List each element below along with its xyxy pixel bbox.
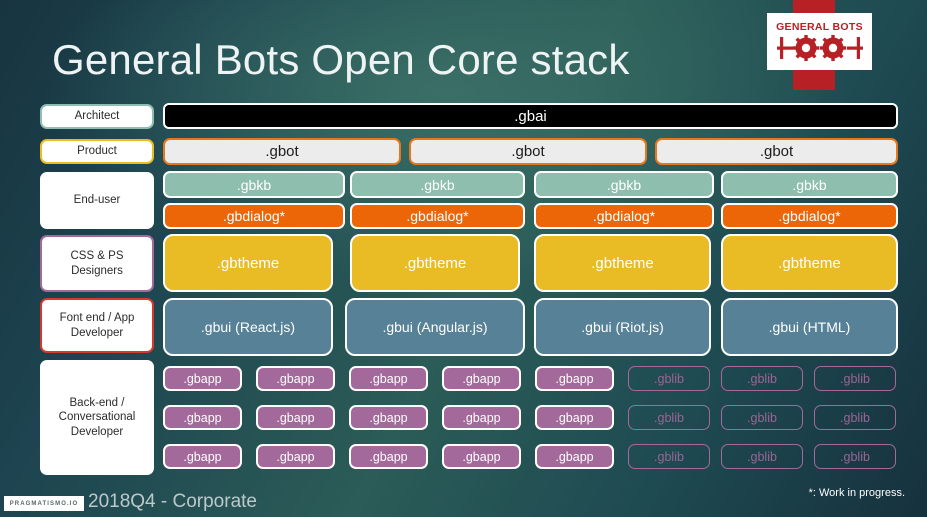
stack-box-label: .gblib — [747, 450, 777, 464]
stack-box-gbui-riot[interactable]: .gbui (Riot.js) — [534, 298, 711, 356]
role-label-end-user: End-user — [40, 172, 154, 229]
page-title: General Bots Open Core stack — [52, 36, 630, 84]
stack-box-gbui-html[interactable]: .gbui (HTML) — [721, 298, 898, 356]
stack-box-gbapp[interactable]: .gbapp — [163, 444, 242, 469]
stack-box-label: .gbapp — [462, 411, 500, 425]
stack-box-label: .gbui (Angular.js) — [382, 319, 487, 335]
stack-box-gbapp[interactable]: .gbapp — [163, 366, 242, 391]
stack-box-label: .gbapp — [369, 372, 407, 386]
stack-box-gbtheme-3[interactable]: .gbtheme — [534, 234, 711, 292]
stack-box-gbapp[interactable]: .gbapp — [256, 444, 335, 469]
stack-box-label: .gbui (HTML) — [769, 319, 851, 335]
stack-box-label: .gbapp — [183, 450, 221, 464]
stack-box-label: .gbkb — [420, 177, 454, 193]
stack-box-gbapp[interactable]: .gbapp — [256, 405, 335, 430]
stack-box-gblib[interactable]: .gblib — [721, 366, 803, 391]
role-text: CSS & PS Designers — [46, 249, 148, 278]
stack-box-gbkb-1[interactable]: .gbkb — [163, 171, 345, 198]
stack-box-gbapp[interactable]: .gbapp — [442, 366, 521, 391]
pragmatismo-logo: PRAGMATISMO.IO — [4, 496, 84, 511]
role-label-architect: Architect — [40, 104, 154, 129]
work-in-progress-note: *: Work in progress. — [809, 487, 905, 499]
stack-box-gbapp[interactable]: .gbapp — [442, 405, 521, 430]
footer-caption: 2018Q4 - Corporate — [88, 491, 257, 513]
stack-box-label: .gbot — [265, 143, 298, 160]
stack-box-label: .gbdialog* — [223, 208, 285, 224]
stack-box-gbkb-4[interactable]: .gbkb — [721, 171, 898, 198]
stack-box-gbapp[interactable]: .gbapp — [256, 366, 335, 391]
stack-box-label: .gbkb — [607, 177, 641, 193]
stack-box-gbai[interactable]: .gbai — [163, 103, 898, 129]
pragmatismo-wordmark: PRAGMATISMO.IO — [10, 501, 79, 507]
stack-box-label: .gbdialog* — [593, 208, 655, 224]
stack-box-gblib[interactable]: .gblib — [628, 444, 710, 469]
stack-box-label: .gbapp — [276, 411, 314, 425]
stack-box-label: .gbkb — [237, 177, 271, 193]
stack-box-gbapp[interactable]: .gbapp — [349, 405, 428, 430]
role-text: Architect — [75, 109, 120, 123]
stack-box-gbapp[interactable]: .gbapp — [535, 405, 614, 430]
stack-box-label: .gbapp — [555, 450, 593, 464]
stack-box-gbdialog-3[interactable]: .gbdialog* — [534, 203, 714, 229]
stack-box-gblib[interactable]: .gblib — [721, 405, 803, 430]
stack-box-gbapp[interactable]: .gbapp — [349, 366, 428, 391]
stack-box-label: .gbapp — [369, 411, 407, 425]
stack-box-gbot-3[interactable]: .gbot — [655, 138, 898, 165]
stack-box-gbapp[interactable]: .gbapp — [163, 405, 242, 430]
stack-box-gbdialog-4[interactable]: .gbdialog* — [721, 203, 898, 229]
stack-box-gblib[interactable]: .gblib — [628, 366, 710, 391]
stack-box-label: .gbtheme — [404, 255, 467, 272]
stack-box-label: .gblib — [654, 372, 684, 386]
stack-box-label: .gblib — [747, 411, 777, 425]
stack-box-gbot-2[interactable]: .gbot — [409, 138, 647, 165]
stack-box-gbapp[interactable]: .gbapp — [349, 444, 428, 469]
slide-canvas: GENERAL BOTS — [0, 0, 927, 517]
stack-box-label: .gbdialog* — [778, 208, 840, 224]
stack-box-gblib[interactable]: .gblib — [814, 366, 896, 391]
stack-box-label: .gbapp — [276, 450, 314, 464]
stack-box-label: .gblib — [747, 372, 777, 386]
stack-box-gbapp[interactable]: .gbapp — [535, 444, 614, 469]
stack-box-gbdialog-1[interactable]: .gbdialog* — [163, 203, 345, 229]
stack-box-label: .gblib — [840, 450, 870, 464]
stack-box-label: .gbapp — [555, 411, 593, 425]
role-text: Back-end / Conversational Developer — [46, 396, 148, 439]
stack-box-gbapp[interactable]: .gbapp — [442, 444, 521, 469]
two-gears-with-bars-icon — [777, 35, 863, 61]
stack-box-label: .gblib — [840, 372, 870, 386]
stack-box-gbui-angular[interactable]: .gbui (Angular.js) — [345, 298, 525, 356]
stack-box-gbkb-2[interactable]: .gbkb — [350, 171, 525, 198]
role-text: Font end / App Developer — [46, 311, 148, 340]
stack-box-label: .gbapp — [183, 372, 221, 386]
stack-box-label: .gbui (React.js) — [201, 319, 295, 335]
general-bots-logo: GENERAL BOTS — [767, 13, 872, 70]
stack-box-gblib[interactable]: .gblib — [721, 444, 803, 469]
role-label-front-end-app-developer: Font end / App Developer — [40, 298, 154, 353]
stack-box-label: .gbkb — [792, 177, 826, 193]
stack-box-label: .gbtheme — [591, 255, 654, 272]
stack-box-label: .gbot — [760, 143, 793, 160]
stack-box-label: .gbot — [511, 143, 544, 160]
stack-box-gbot-1[interactable]: .gbot — [163, 138, 401, 165]
stack-box-gbtheme-4[interactable]: .gbtheme — [721, 234, 898, 292]
logo-wordmark: GENERAL BOTS — [776, 22, 863, 33]
stack-box-gbtheme-2[interactable]: .gbtheme — [350, 234, 520, 292]
stack-box-label: .gbapp — [555, 372, 593, 386]
stack-box-label: .gblib — [654, 450, 684, 464]
role-text: Product — [77, 144, 117, 158]
stack-box-gblib[interactable]: .gblib — [814, 405, 896, 430]
role-label-css-ps-designers: CSS & PS Designers — [40, 235, 154, 292]
stack-box-label: .gblib — [840, 411, 870, 425]
stack-box-gblib[interactable]: .gblib — [814, 444, 896, 469]
stack-box-label: .gbapp — [276, 372, 314, 386]
role-text: End-user — [74, 193, 121, 207]
stack-box-gbapp[interactable]: .gbapp — [535, 366, 614, 391]
stack-box-label: .gblib — [654, 411, 684, 425]
role-label-back-end-conversational-developer: Back-end / Conversational Developer — [40, 360, 154, 475]
stack-box-gbtheme-1[interactable]: .gbtheme — [163, 234, 333, 292]
stack-box-label: .gbdialog* — [406, 208, 468, 224]
stack-box-label: .gbtheme — [217, 255, 280, 272]
stack-box-label: .gbui (Riot.js) — [581, 319, 663, 335]
stack-box-gblib[interactable]: .gblib — [628, 405, 710, 430]
stack-box-label: .gbapp — [462, 372, 500, 386]
stack-box-label: .gbapp — [369, 450, 407, 464]
stack-box-label: .gbapp — [462, 450, 500, 464]
stack-box-gbdialog-2[interactable]: .gbdialog* — [350, 203, 525, 229]
stack-box-label: .gbtheme — [778, 255, 841, 272]
stack-box-label: .gbai — [514, 108, 547, 125]
stack-box-label: .gbapp — [183, 411, 221, 425]
role-label-product: Product — [40, 139, 154, 164]
stack-box-gbkb-3[interactable]: .gbkb — [534, 171, 714, 198]
stack-box-gbui-react[interactable]: .gbui (React.js) — [163, 298, 333, 356]
